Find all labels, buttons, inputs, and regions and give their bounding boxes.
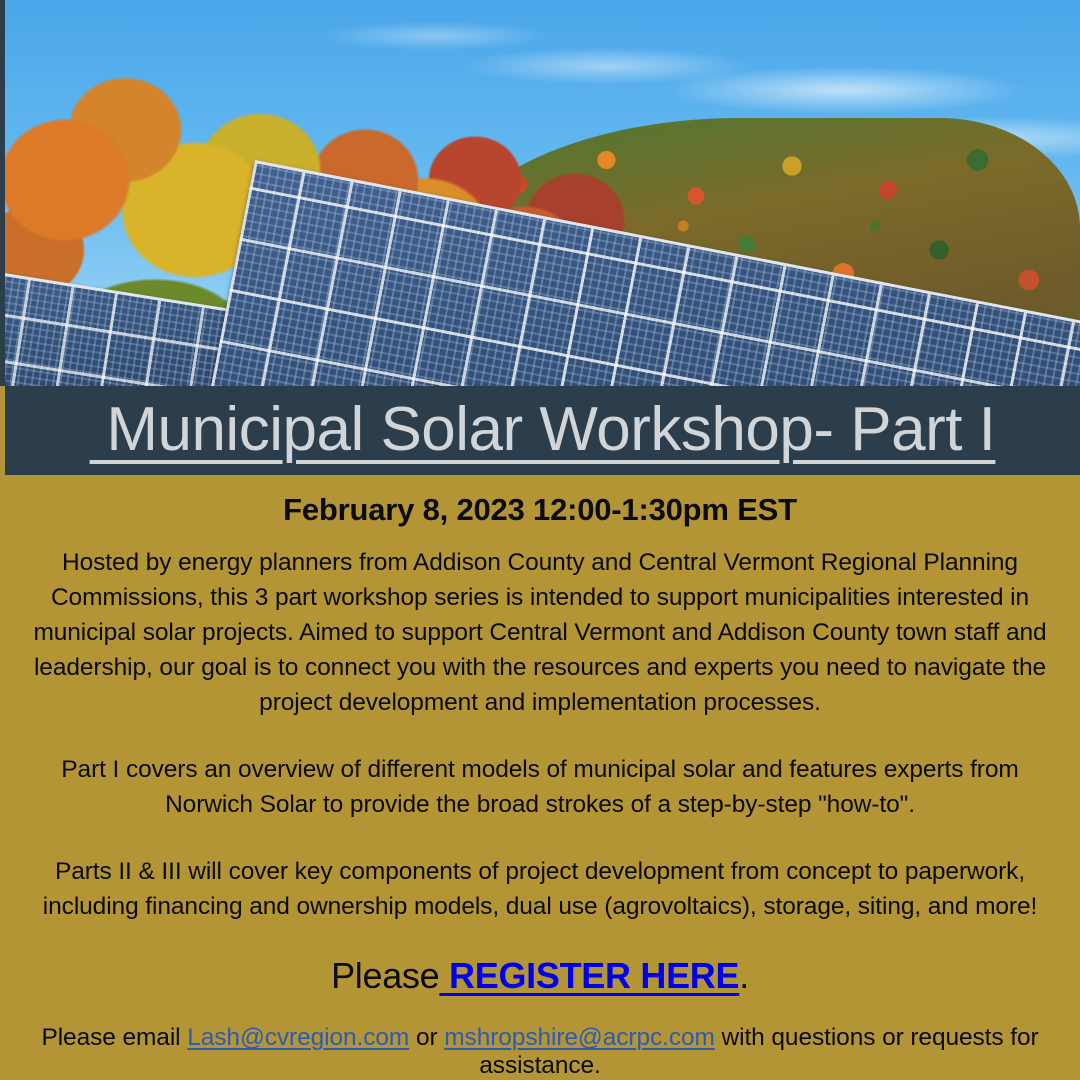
page-title: Municipal Solar Workshop- Part I xyxy=(90,399,996,461)
footer-prefix: Please email xyxy=(41,1024,187,1051)
register-prefix: Please xyxy=(331,955,439,996)
register-line: Please REGISTER HERE. xyxy=(14,955,1066,997)
email-link-lash[interactable]: Lash@cvregion.com xyxy=(187,1024,409,1051)
register-here-link[interactable]: REGISTER HERE xyxy=(439,955,739,996)
email-link-mshropshire[interactable]: mshropshire@acrpc.com xyxy=(444,1024,715,1051)
register-suffix: . xyxy=(739,955,749,996)
contact-footer: Please email Lash@cvregion.com or mshrop… xyxy=(14,1024,1066,1080)
event-date-time: February 8, 2023 12:00-1:30pm EST xyxy=(14,492,1066,528)
description-paragraph-2: Part I covers an overview of different m… xyxy=(14,752,1066,822)
description-paragraph-3: Parts II & III will cover key components… xyxy=(14,854,1066,924)
content-panel: February 8, 2023 12:00-1:30pm EST Hosted… xyxy=(0,475,1080,1080)
solar-array-photo xyxy=(0,0,1080,386)
title-band: Municipal Solar Workshop- Part I xyxy=(0,386,1080,475)
footer-separator: or xyxy=(409,1024,444,1051)
flyer: Municipal Solar Workshop- Part I Februar… xyxy=(0,0,1080,1080)
description-paragraph-1: Hosted by energy planners from Addison C… xyxy=(14,545,1066,720)
